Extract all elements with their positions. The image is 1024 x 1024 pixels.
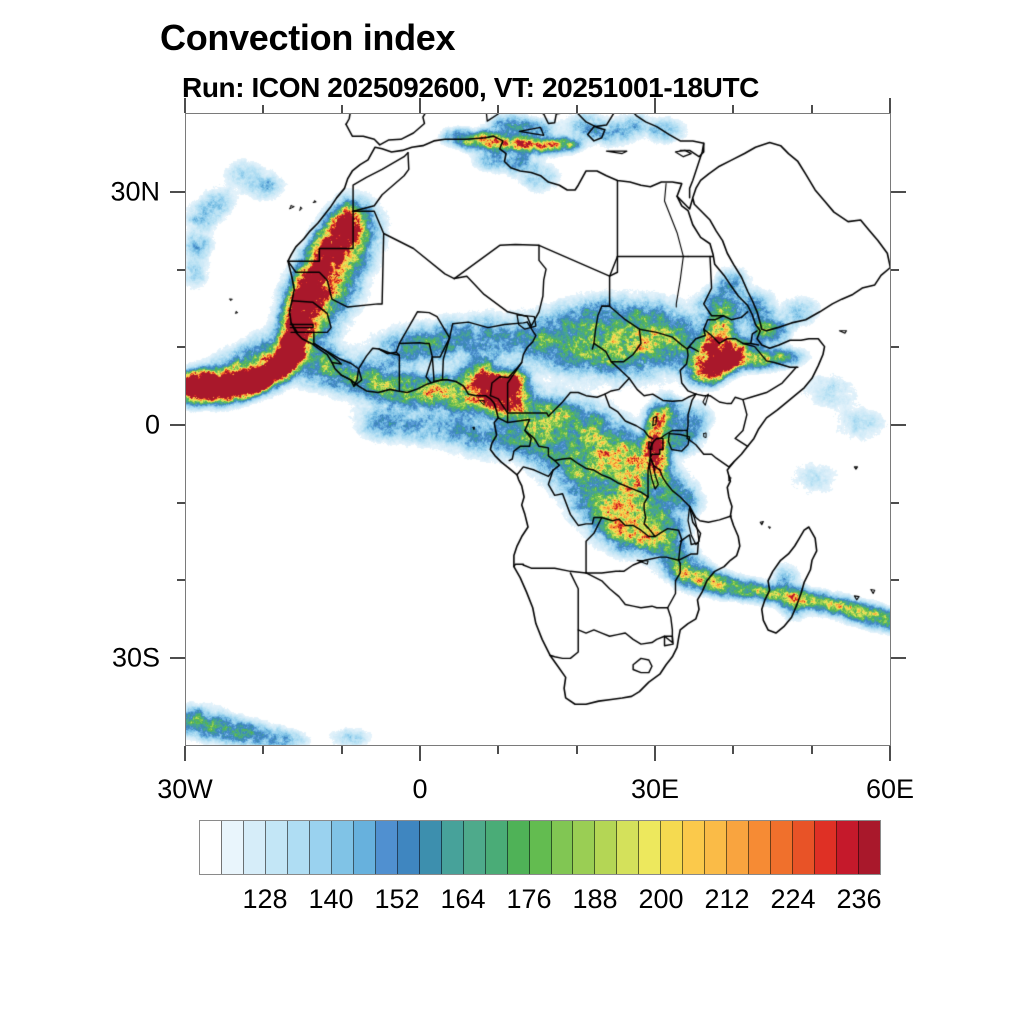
y-minor-tick-right bbox=[891, 269, 899, 271]
page-title: Convection index bbox=[160, 17, 455, 59]
colorbar-tick-label: 236 bbox=[836, 884, 881, 915]
y-tick-label: 30N bbox=[60, 177, 160, 208]
x-major-tick-top bbox=[184, 98, 186, 113]
colorbar-cell[interactable] bbox=[222, 821, 244, 874]
x-minor-tick bbox=[262, 746, 264, 754]
colorbar-cell[interactable] bbox=[815, 821, 837, 874]
colorbar-cell[interactable] bbox=[266, 821, 288, 874]
x-minor-tick-top bbox=[341, 105, 343, 113]
colorbar-cell[interactable] bbox=[749, 821, 771, 874]
colorbar-cell[interactable] bbox=[288, 821, 310, 874]
colorbar[interactable] bbox=[199, 820, 881, 875]
y-major-tick-right bbox=[891, 424, 906, 426]
x-minor-tick-top bbox=[497, 105, 499, 113]
colorbar-cell[interactable] bbox=[683, 821, 705, 874]
colorbar-cell[interactable] bbox=[310, 821, 332, 874]
y-minor-tick bbox=[177, 502, 185, 504]
colorbar-cell[interactable] bbox=[793, 821, 815, 874]
x-major-tick-top bbox=[654, 98, 656, 113]
colorbar-tick-label: 224 bbox=[770, 884, 815, 915]
y-minor-tick bbox=[177, 579, 185, 581]
y-minor-tick-right bbox=[891, 346, 899, 348]
colorbar-tick-label: 176 bbox=[506, 884, 551, 915]
figure-subtitle: Run: ICON 2025092600, VT: 20251001-18UTC bbox=[182, 72, 759, 104]
x-major-tick bbox=[419, 746, 421, 761]
y-major-tick bbox=[170, 191, 185, 193]
map-plot-area[interactable] bbox=[185, 113, 891, 746]
y-tick-label: 30S bbox=[60, 643, 160, 674]
colorbar-cell[interactable] bbox=[464, 821, 486, 874]
colorbar-cell[interactable] bbox=[442, 821, 464, 874]
colorbar-cell[interactable] bbox=[595, 821, 617, 874]
colorbar-tick-label: 140 bbox=[308, 884, 353, 915]
colorbar-cell[interactable] bbox=[508, 821, 530, 874]
colorbar-cell[interactable] bbox=[530, 821, 552, 874]
colorbar-tick-labels: 128140152164176188200212224236 bbox=[0, 884, 1024, 920]
x-major-tick-top bbox=[889, 98, 891, 113]
x-minor-tick bbox=[576, 746, 578, 754]
y-major-tick bbox=[170, 424, 185, 426]
colorbar-cell[interactable] bbox=[354, 821, 376, 874]
colorbar-tick-label: 212 bbox=[704, 884, 749, 915]
colorbar-tick-label: 200 bbox=[638, 884, 683, 915]
x-minor-tick bbox=[811, 746, 813, 754]
x-major-tick bbox=[654, 746, 656, 761]
x-tick-label: 30E bbox=[631, 774, 679, 805]
x-major-tick-top bbox=[419, 98, 421, 113]
colorbar-cell[interactable] bbox=[244, 821, 266, 874]
y-minor-tick bbox=[177, 346, 185, 348]
x-tick-label: 30W bbox=[157, 774, 213, 805]
x-major-tick bbox=[184, 746, 186, 761]
x-tick-label: 60E bbox=[866, 774, 914, 805]
figure-canvas: Convection index Run: ICON 2025092600, V… bbox=[0, 0, 1024, 1024]
colorbar-cell[interactable] bbox=[573, 821, 595, 874]
y-minor-tick-right bbox=[891, 579, 899, 581]
x-minor-tick-top bbox=[732, 105, 734, 113]
colorbar-cell[interactable] bbox=[332, 821, 354, 874]
colorbar-cell[interactable] bbox=[200, 821, 222, 874]
convection-index-map bbox=[186, 114, 891, 746]
x-minor-tick bbox=[497, 746, 499, 754]
x-minor-tick-top bbox=[811, 105, 813, 113]
y-major-tick-right bbox=[891, 657, 906, 659]
x-minor-tick bbox=[732, 746, 734, 754]
colorbar-cell[interactable] bbox=[859, 821, 880, 874]
colorbar-cell[interactable] bbox=[617, 821, 639, 874]
colorbar-cell[interactable] bbox=[705, 821, 727, 874]
colorbar-tick-label: 128 bbox=[242, 884, 287, 915]
colorbar-cell[interactable] bbox=[486, 821, 508, 874]
y-minor-tick-right bbox=[891, 502, 899, 504]
y-minor-tick bbox=[177, 269, 185, 271]
colorbar-tick-label: 188 bbox=[572, 884, 617, 915]
x-tick-label: 0 bbox=[412, 774, 427, 805]
colorbar-cell[interactable] bbox=[661, 821, 683, 874]
x-major-tick bbox=[889, 746, 891, 761]
y-major-tick bbox=[170, 657, 185, 659]
colorbar-cell[interactable] bbox=[771, 821, 793, 874]
colorbar-cell[interactable] bbox=[727, 821, 749, 874]
colorbar-cell[interactable] bbox=[398, 821, 420, 874]
colorbar-cell[interactable] bbox=[639, 821, 661, 874]
x-minor-tick-top bbox=[576, 105, 578, 113]
colorbar-cell[interactable] bbox=[552, 821, 574, 874]
colorbar-cell[interactable] bbox=[837, 821, 859, 874]
colorbar-cell[interactable] bbox=[420, 821, 442, 874]
x-minor-tick bbox=[341, 746, 343, 754]
colorbar-tick-label: 164 bbox=[440, 884, 485, 915]
y-tick-label: 0 bbox=[60, 410, 160, 441]
x-minor-tick-top bbox=[262, 105, 264, 113]
y-major-tick-right bbox=[891, 191, 906, 193]
colorbar-tick-label: 152 bbox=[374, 884, 419, 915]
colorbar-cell[interactable] bbox=[376, 821, 398, 874]
